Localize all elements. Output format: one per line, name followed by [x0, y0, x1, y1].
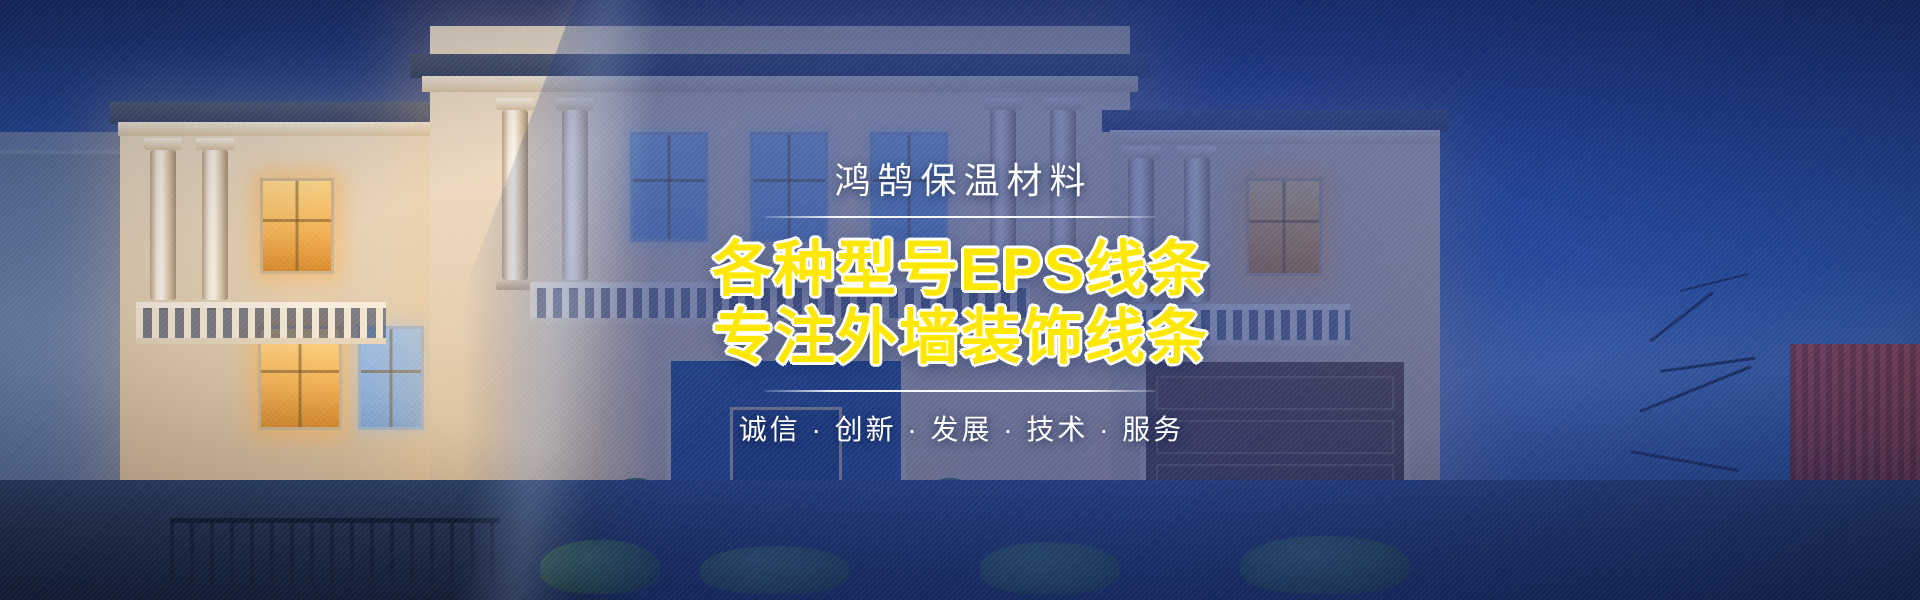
hero-banner: 鸿鹄保温材料 各种型号EPS线条 专注外墙装饰线条 诚信 · 创新 · 发展 ·… [0, 0, 1920, 600]
divider-top [765, 216, 1155, 218]
headline-line-2: 专注外墙装饰线条 [711, 304, 1209, 372]
headline-line-1: 各种型号EPS线条 [710, 236, 1210, 304]
divider-bottom [765, 390, 1155, 392]
tagline: 诚信 · 创新 · 发展 · 技术 · 服务 [736, 408, 1185, 448]
banner-copy: 鸿鹄保温材料 各种型号EPS线条 专注外墙装饰线条 诚信 · 创新 · 发展 ·… [0, 0, 1920, 600]
brand-name: 鸿鹄保温材料 [827, 152, 1092, 204]
